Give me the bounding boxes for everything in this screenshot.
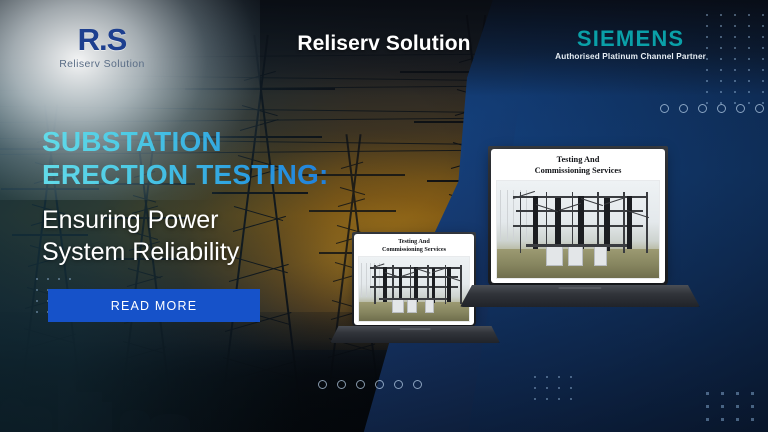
laptop-front-screen-image (496, 180, 660, 280)
siemens-wordmark: SIEMENS (555, 28, 706, 50)
hero-subheading-line1: Ensuring Power (42, 204, 372, 236)
laptop-front: Testing And Commissioning Services (460, 146, 700, 346)
hero-banner: R.S Reliserv Solution Reliserv Solution … (0, 0, 768, 432)
hero-subheading: Ensuring Power System Reliability (42, 204, 372, 268)
siemens-partner-tagline: Authorised Platinum Channel Partner (555, 52, 706, 61)
read-more-button[interactable]: READ MORE (48, 289, 260, 322)
decor-circle-row (660, 104, 764, 113)
hero-copy: SUBSTATION ERECTION TESTING: Ensuring Po… (42, 126, 372, 268)
hero-heading: SUBSTATION ERECTION TESTING: (42, 126, 372, 192)
hero-heading-line2: ERECTION TESTING: (42, 159, 372, 192)
carousel-dots[interactable] (318, 380, 422, 389)
laptop-front-screen-title-line2: Commissioning Services (535, 166, 622, 177)
laptop-front-screen-title-line1: Testing And (557, 155, 600, 166)
laptop-back-screen-title-line1: Testing And (398, 238, 430, 246)
hero-subheading-line2: System Reliability (42, 236, 372, 268)
logo-subtitle: Reliserv Solution (59, 58, 145, 70)
laptop-back-screen-image (358, 256, 470, 322)
hero-heading-line1: SUBSTATION (42, 126, 372, 159)
laptop-back-screen-title-line2: Commissioning Services (382, 246, 446, 254)
siemens-partner-badge: SIEMENS Authorised Platinum Channel Part… (555, 28, 706, 61)
